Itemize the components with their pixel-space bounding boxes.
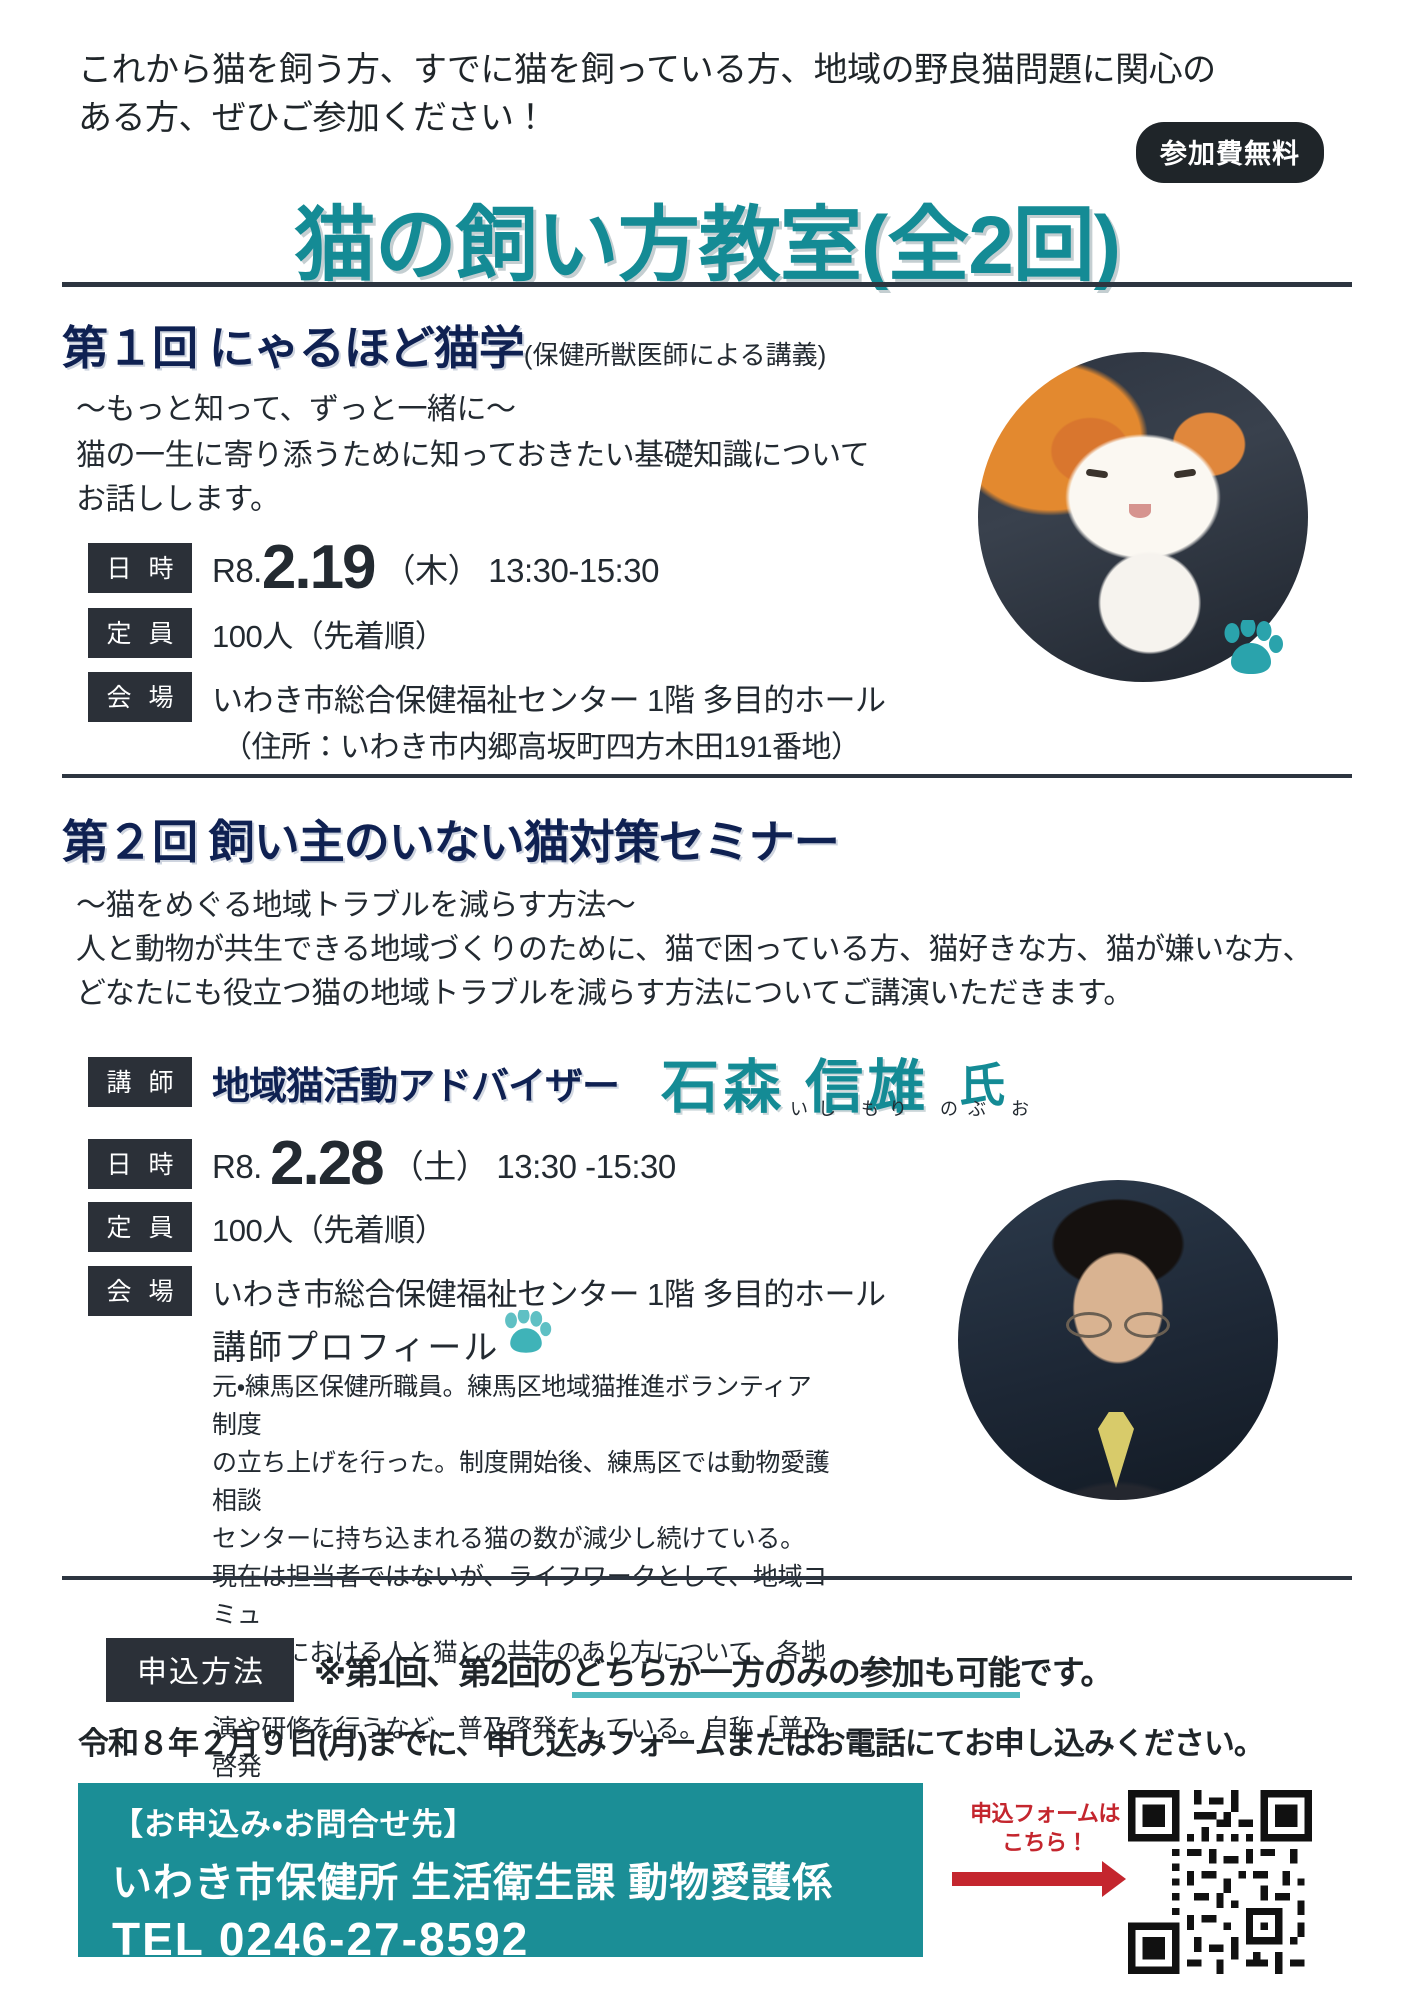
paw-print-icon [1218,620,1284,678]
session1-datetime-row: 日 時 R8.2.19 （木） 13:30-15:30 [88,532,659,603]
lecturer-furigana-surname: いし もり [790,1095,917,1121]
session1-tagline: 〜もっと知って、ずっと一緒に〜 [76,384,516,428]
apply-note-pre: ※第1回、第2回の [314,1654,572,1691]
session1-day: 2.19 [262,533,375,602]
session2-desc-1: 人と動物が共生できる地域づくりのために、猫で困っている方、猫好きな方、猫が嫌いな… [76,928,1312,972]
session2-desc-2: どなたにも役立つ猫の地域トラブルを減らす方法についてご講演いただきます。 [76,972,1133,1016]
apply-deadline: 令和８年２月９日(月)までに、申し込みフォームまたはお電話にてお申し込みください… [78,1718,1264,1763]
session2-capacity-row: 定 員 100人（先着順） [88,1202,445,1252]
apply-method-label: 申込方法 [106,1638,294,1702]
session2-datetime-label: 日 時 [88,1139,192,1189]
qr-arrow-icon [952,1872,1104,1886]
session2-tagline: 〜猫をめぐる地域トラブルを減らす方法〜 [76,880,635,924]
session2-venue-row: 会 場 いわき市総合保健福祉センター 1階 多目的ホール [88,1266,885,1316]
session1-venue-address: （住所：いわき市内郷高坂町四方木田191番地） [222,722,861,766]
session2-heading: 第２回 飼い主のいない猫対策セミナー [62,806,839,872]
contact-box: 【お申込み・お問合せ先】 いわき市保健所 生活衛生課 動物愛護係 TEL 024… [78,1783,923,1957]
portrait-necktie [1098,1412,1134,1488]
session1-desc-2: お話しします。 [76,478,280,522]
divider-apply [62,1576,1352,1580]
profile-line-2: の立ち上げを行った。制度開始後、練馬区では動物愛護相談 [212,1444,832,1520]
profile-line-1: 元・練馬区保健所職員。練馬区地域猫推進ボランティア制度 [212,1368,832,1444]
session2-capacity-label: 定 員 [88,1202,192,1252]
session2-venue-value: いわき市総合保健福祉センター 1階 多目的ホール [212,1269,885,1314]
session1-dow: （木） [383,552,481,589]
session2-datetime-row: 日 時 R8. 2.28 （土） 13:30 -15:30 [88,1128,676,1199]
session1-era: R8. [212,552,262,589]
profile-line-4: 現在は担当者ではないが、ライフワークとして、地域コミュ [212,1558,832,1634]
session1-capacity-row: 定 員 100人（先着順） [88,608,445,658]
profile-title: 講師プロフィール [212,1320,499,1369]
session1-venue-row: 会 場 いわき市総合保健福祉センター 1階 多目的ホール [88,672,885,722]
session2-datetime-value: R8. 2.28 （土） 13:30 -15:30 [212,1128,676,1199]
qr-code-icon[interactable] [1128,1790,1312,1974]
session1-capacity-value: 100人（先着順） [212,611,445,656]
session2-lecturer-title: 地域猫活動アドバイザー [212,1055,619,1110]
session1-heading-text: 第１回 にゃるほど猫学 [62,322,524,374]
cat-eye-right [1174,469,1197,479]
session1-time: 13:30-15:30 [488,552,659,589]
qr-label: 申込フォームは こちら！ [960,1800,1130,1857]
session1-datetime-label: 日 時 [88,543,192,593]
session2-lecturer-label: 講 師 [88,1057,192,1107]
divider-top [62,282,1352,287]
contact-phone: TEL 0246-27-8592 [112,1912,923,1966]
intro-text: これから猫を飼う方、すでに猫を飼っている方、地域の野良猫問題に関心の ある方、ぜ… [78,46,1328,143]
session2-capacity-value: 100人（先着順） [212,1205,445,1250]
contact-line-1: 【お申込み・お問合せ先】 [112,1799,923,1844]
cat-eye-left [1086,469,1109,479]
session2-venue-label: 会 場 [88,1266,192,1316]
lecturer-furigana-givenname: のぶ お [940,1095,1039,1121]
session1-desc-1: 猫の一生に寄り添うために知っておきたい基礎知識について [76,434,869,478]
apply-note: ※第1回、第2回のどちらか一方のみの参加も可能です。 [314,1646,1113,1694]
session1-venue-value: いわき市総合保健福祉センター 1階 多目的ホール [212,675,885,720]
session1-capacity-label: 定 員 [88,608,192,658]
qr-label-line-2: こちら！ [960,1829,1130,1858]
session2-time: 13:30 -15:30 [496,1148,675,1185]
session1-datetime-value: R8.2.19 （木） 13:30-15:30 [212,532,659,603]
session1-heading: 第１回 にゃるほど猫学(保健所獣医師による講義) [62,312,826,378]
cat-nose [1129,504,1151,518]
session2-dow: （土） [391,1148,489,1185]
paw-print-icon-profile [500,1310,552,1356]
portrait-glasses-left [1066,1312,1112,1338]
apply-note-highlight: どちらか一方のみの参加も可能 [572,1654,1020,1698]
session1-heading-paren: (保健所獣医師による講義) [524,340,827,370]
qr-label-line-1: 申込フォームは [960,1800,1130,1829]
session1-venue-label: 会 場 [88,672,192,722]
poster-page: これから猫を飼う方、すでに猫を飼っている方、地域の野良猫問題に関心の ある方、ぜ… [0,0,1414,2000]
contact-line-2: いわき市保健所 生活衛生課 動物愛護係 [112,1850,923,1908]
profile-line-3: センターに持ち込まれる猫の数が減少し続けている。 [212,1520,832,1558]
page-title: 猫の飼い方教室(全2回) [0,178,1414,297]
session2-lecturer-photo [958,1180,1278,1500]
free-participation-badge: 参加費無料 [1136,122,1324,183]
apply-note-post: です。 [1020,1654,1113,1691]
portrait-glasses-right [1124,1312,1170,1338]
divider-session1-session2 [62,774,1352,778]
apply-method-row: 申込方法 ※第1回、第2回のどちらか一方のみの参加も可能です。 [106,1638,1113,1702]
intro-line-1: これから猫を飼う方、すでに猫を飼っている方、地域の野良猫問題に関心の [78,46,1328,94]
session2-era: R8. [212,1148,262,1185]
session2-day: 2.28 [270,1129,383,1198]
